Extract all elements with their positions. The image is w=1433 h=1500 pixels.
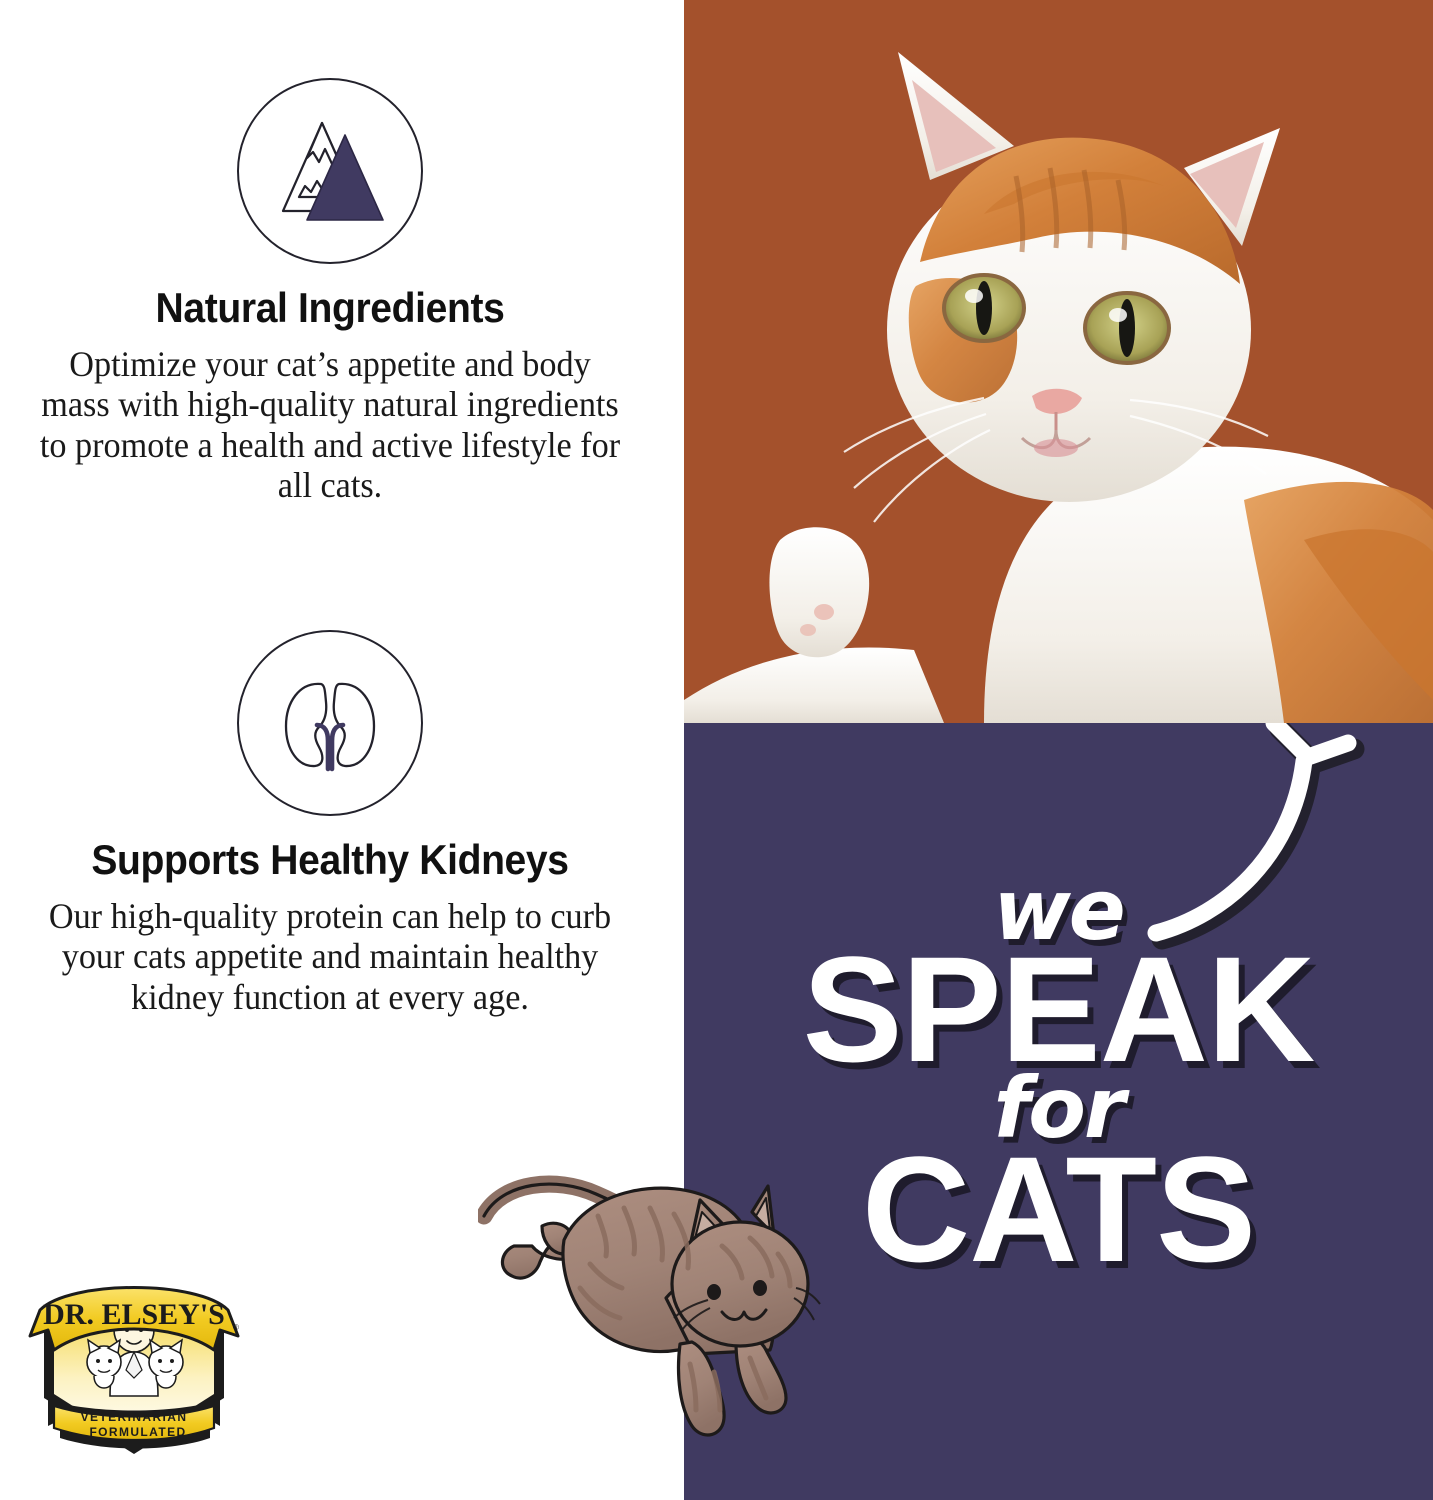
kidneys-icon — [237, 630, 423, 816]
feature-title: Supports Healthy Kidneys — [23, 836, 637, 884]
mountain-icon — [237, 78, 423, 264]
feature-title: Natural Ingredients — [23, 284, 637, 332]
leaping-tabby-cat-illustration — [478, 1158, 848, 1458]
orange-white-cat-photo — [684, 0, 1433, 723]
feature-natural-ingredients: Natural Ingredients Optimize your cat’s … — [0, 78, 660, 505]
logo-tagline-line1: VETERINARIAN — [81, 1410, 188, 1424]
feature-body: Optimize your cat’s appetite and body ma… — [17, 344, 644, 505]
feature-body: Our high-quality protein can help to cur… — [17, 896, 644, 1017]
logo-brand-text: DR. ELSEY'S — [43, 1298, 225, 1331]
dr-elseys-logo: DR. ELSEY'S ® VETERINARIAN FORMULATED — [14, 1258, 254, 1468]
feature-supports-healthy-kidneys: Supports Healthy Kidneys Our high-qualit… — [0, 630, 660, 1017]
logo-tagline-line2: FORMULATED — [89, 1425, 186, 1439]
registered-trademark-icon: ® — [233, 1323, 239, 1332]
slogan-line-speak: SPEAK — [684, 943, 1433, 1075]
